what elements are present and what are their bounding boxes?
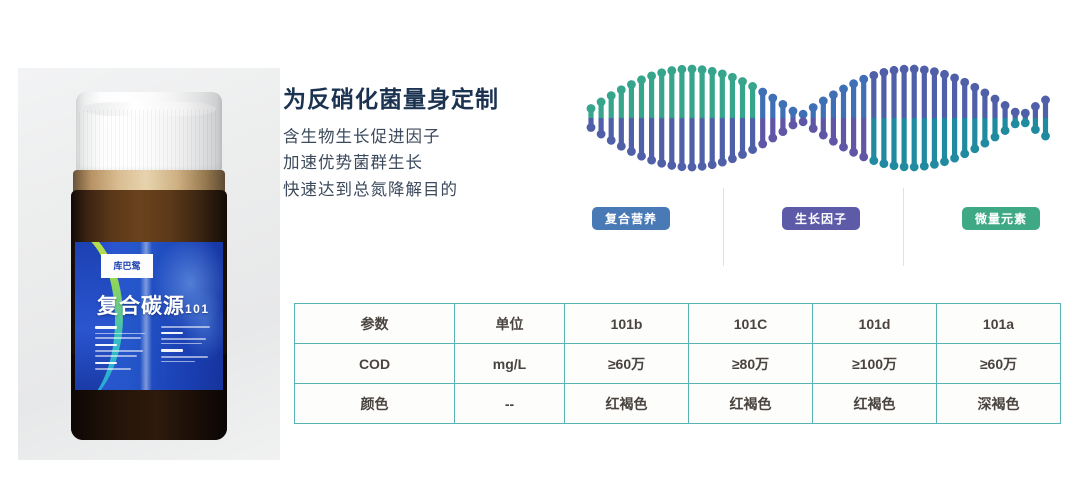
table-cell: ≥60万 bbox=[565, 344, 689, 384]
subtitle-line-1: 含生物生长促进因子 bbox=[283, 124, 583, 151]
table-cell: ≥80万 bbox=[689, 344, 813, 384]
page-title: 为反硝化菌量身定制 bbox=[283, 86, 583, 114]
table-cell: 红褐色 bbox=[565, 384, 689, 424]
subtitle-line-2: 加速优势菌群生长 bbox=[283, 150, 583, 177]
label-fineprint bbox=[95, 326, 213, 384]
section-divider-1 bbox=[723, 188, 724, 266]
table-header-cell: 101d bbox=[813, 304, 937, 344]
table-cell: ≥60万 bbox=[937, 344, 1061, 384]
table-header-cell: 101a bbox=[937, 304, 1061, 344]
label-title-text: 复合碳源 bbox=[97, 295, 185, 318]
table-header-row: 参数 单位 101b 101C 101d 101a bbox=[295, 304, 1061, 344]
label-fineprint-right bbox=[161, 326, 213, 384]
section-divider-2 bbox=[903, 188, 904, 266]
table-cell: 深褐色 bbox=[937, 384, 1061, 424]
spec-table: 参数 单位 101b 101C 101d 101a COD mg/L ≥60万 … bbox=[294, 303, 1061, 424]
table-cell: 红褐色 bbox=[813, 384, 937, 424]
badge-trace-elements[interactable]: 微量元素 bbox=[962, 207, 1040, 230]
brand-logo: 库巴鸳 bbox=[101, 254, 153, 278]
badge-compound-nutrition[interactable]: 复合营养 bbox=[592, 207, 670, 230]
table-cell: ≥100万 bbox=[813, 344, 937, 384]
table-cell: -- bbox=[455, 384, 565, 424]
product-spec-page: 库巴鸳 复合碳源101 bbox=[0, 0, 1080, 482]
table-header-cell: 参数 bbox=[295, 304, 455, 344]
bottle-cap bbox=[76, 92, 222, 174]
product-bottle: 库巴鸳 复合碳源101 bbox=[66, 78, 232, 450]
table-cell: 红褐色 bbox=[689, 384, 813, 424]
table-row: 颜色 -- 红褐色 红褐色 红褐色 深褐色 bbox=[295, 384, 1061, 424]
bottle-label: 库巴鸳 复合碳源101 bbox=[75, 242, 223, 390]
label-title: 复合碳源101 bbox=[97, 290, 210, 320]
headline-block: 为反硝化菌量身定制 含生物生长促进因子 加速优势菌群生长 快速达到总氮降解目的 bbox=[283, 86, 583, 204]
badge-label-2: 生长因子 bbox=[795, 210, 847, 227]
badge-growth-factor[interactable]: 生长因子 bbox=[782, 207, 860, 230]
label-model-text: 101 bbox=[185, 302, 210, 316]
table-cell: mg/L bbox=[455, 344, 565, 384]
dna-helix-graphic bbox=[585, 58, 1065, 178]
badge-label-1: 复合营养 bbox=[605, 210, 657, 227]
table-header-cell: 101b bbox=[565, 304, 689, 344]
label-fineprint-left bbox=[95, 326, 147, 384]
brand-logo-text: 库巴鸳 bbox=[113, 262, 140, 271]
subtitle-line-3: 快速达到总氮降解目的 bbox=[283, 177, 583, 204]
table-cell: 颜色 bbox=[295, 384, 455, 424]
bottle-cap-ribs bbox=[79, 110, 219, 170]
dna-helix-svg bbox=[585, 58, 1065, 178]
table-cell: COD bbox=[295, 344, 455, 384]
badge-label-3: 微量元素 bbox=[975, 210, 1027, 227]
product-photo: 库巴鸳 复合碳源101 bbox=[18, 68, 280, 460]
table-header-cell: 101C bbox=[689, 304, 813, 344]
table-header-cell: 单位 bbox=[455, 304, 565, 344]
table-row: COD mg/L ≥60万 ≥80万 ≥100万 ≥60万 bbox=[295, 344, 1061, 384]
bottle-body: 库巴鸳 复合碳源101 bbox=[71, 190, 227, 440]
